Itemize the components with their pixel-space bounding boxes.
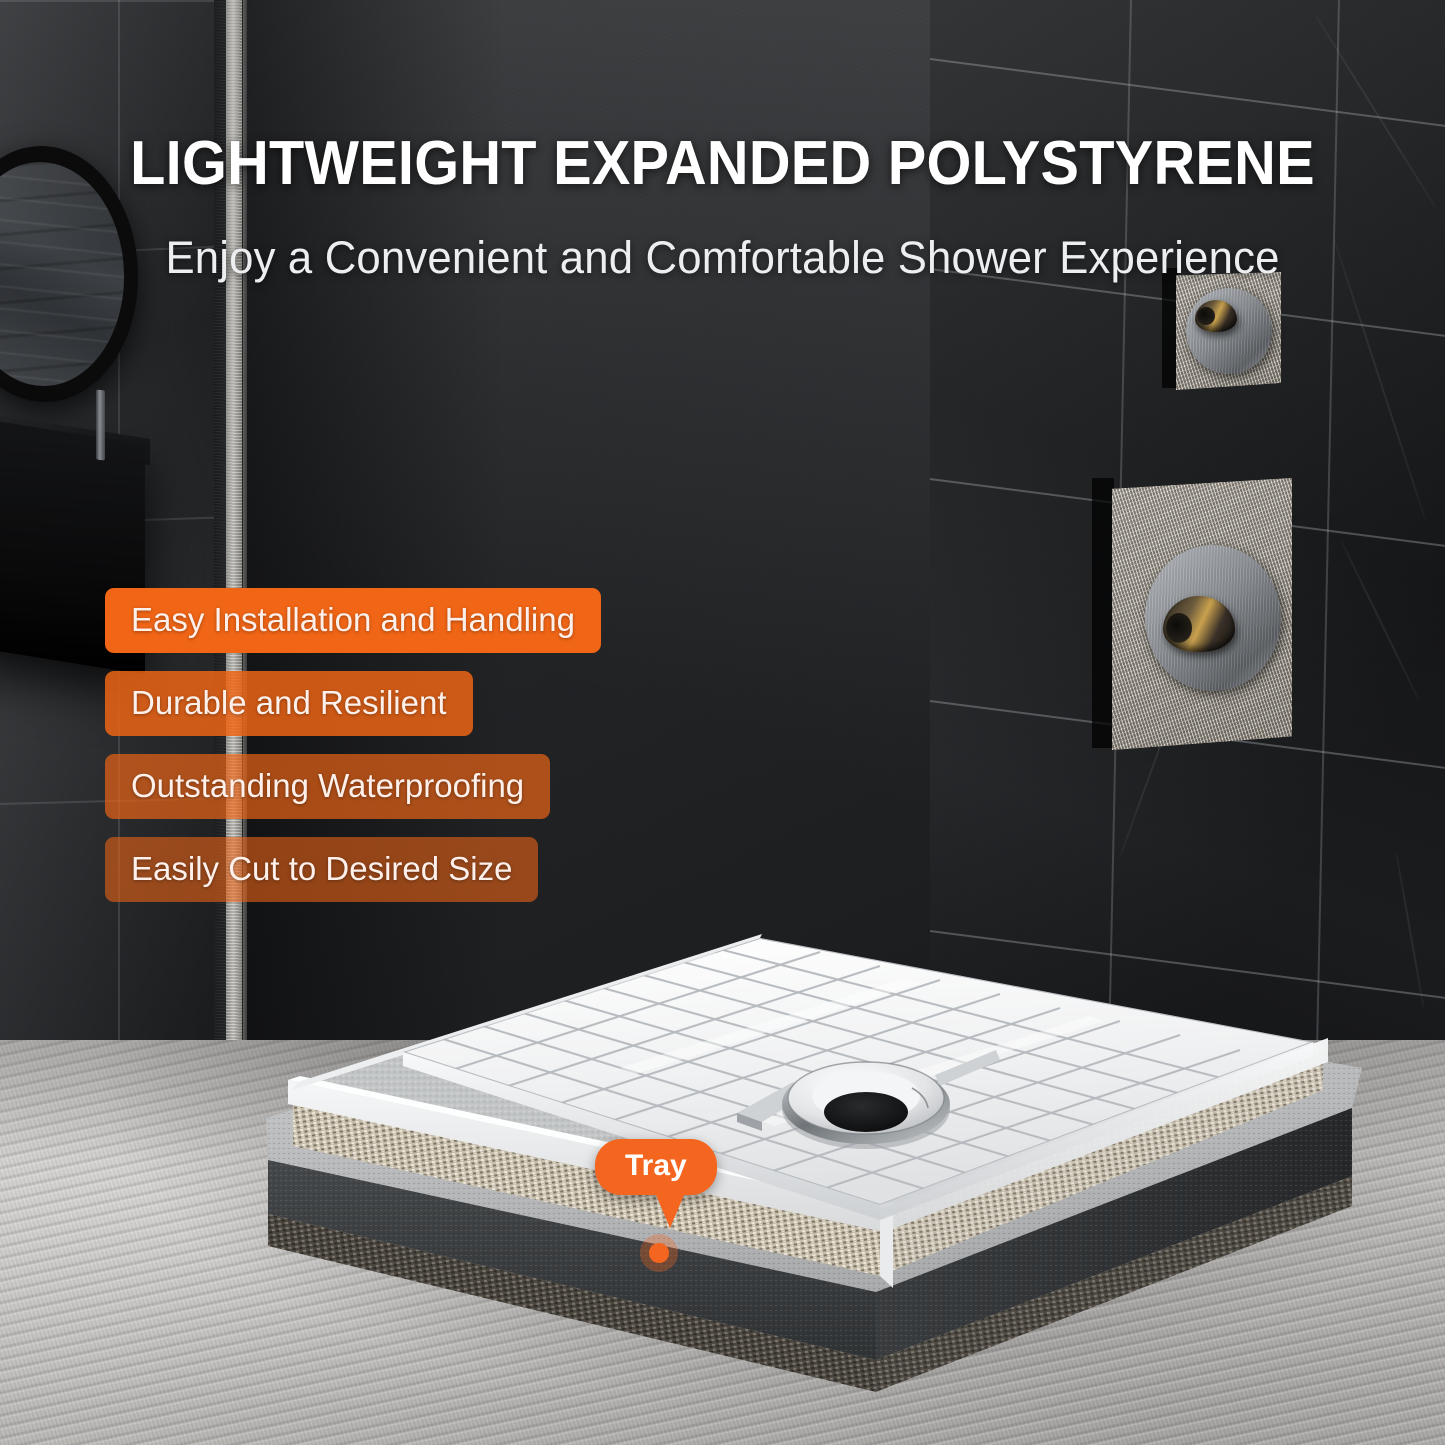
- tray-callout-label: Tray: [595, 1139, 717, 1195]
- callout-anchor-dot: [640, 1234, 678, 1272]
- feature-badge[interactable]: Easy Installation and Handling: [105, 588, 601, 653]
- callout-tail-icon: [653, 1188, 687, 1228]
- tray-callout[interactable]: Tray: [595, 1139, 717, 1195]
- feature-badge[interactable]: Easily Cut to Desired Size: [105, 837, 538, 902]
- feature-badge[interactable]: Durable and Resilient: [105, 671, 473, 736]
- product-feature-image: LIGHTWEIGHT EXPANDED POLYSTYRENE Enjoy a…: [0, 0, 1445, 1445]
- page-subtitle: Enjoy a Convenient and Comfortable Showe…: [22, 232, 1424, 284]
- page-title: LIGHTWEIGHT EXPANDED POLYSTYRENE: [51, 128, 1395, 199]
- feature-badge[interactable]: Outstanding Waterproofing: [105, 754, 550, 819]
- tray-upstand: [880, 1212, 893, 1288]
- feature-badge-list: Easy Installation and Handling Durable a…: [105, 588, 805, 920]
- floor-drain: [782, 1062, 950, 1149]
